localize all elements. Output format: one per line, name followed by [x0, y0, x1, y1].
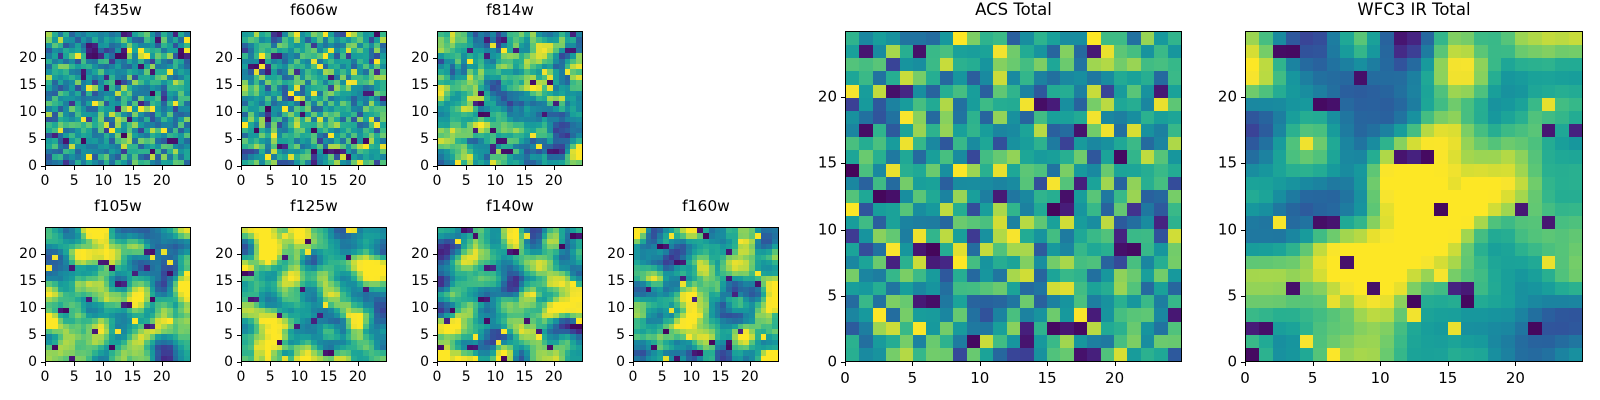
xticklabel-f105w-20: 20 — [153, 370, 171, 384]
xticklabel-f435w-10: 10 — [94, 174, 112, 188]
xticklabel-f160w-15: 15 — [712, 370, 730, 384]
yticklabel-acs-total-0: 0 — [801, 355, 837, 370]
yticklabel-f160w-20: 20 — [589, 247, 625, 261]
xtick-f606w-0 — [241, 166, 242, 170]
yticklabel-acs-total-10: 10 — [801, 222, 837, 237]
yticklabel-f606w-0: 0 — [197, 159, 233, 173]
ytick-f606w-15 — [237, 85, 241, 86]
xticklabel-f606w-0: 0 — [237, 174, 246, 188]
ytick-f160w-10 — [629, 308, 633, 309]
heatmap-axes-f125w — [241, 227, 387, 362]
xtick-f140w-0 — [437, 362, 438, 366]
ytick-f606w-0 — [237, 166, 241, 167]
ytick-acs-total-10 — [841, 230, 845, 231]
xticklabel-f140w-15: 15 — [516, 370, 534, 384]
heatmap-axes-f105w — [45, 227, 191, 362]
yticklabel-f606w-20: 20 — [197, 51, 233, 65]
yticklabel-f105w-5: 5 — [1, 328, 37, 342]
yticklabel-f606w-15: 15 — [197, 78, 233, 92]
panel-f814w: f814w0510152005101520 — [393, 2, 583, 195]
xtick-f105w-15 — [133, 362, 134, 366]
xticklabel-acs-total-10: 10 — [970, 371, 989, 386]
xtick-acs-total-10 — [980, 362, 981, 366]
xtick-f606w-15 — [329, 166, 330, 170]
ytick-f105w-20 — [41, 254, 45, 255]
xtick-f814w-5 — [466, 166, 467, 170]
xticklabel-f140w-10: 10 — [486, 370, 504, 384]
panel-f125w: f125w0510152005101520 — [197, 198, 387, 391]
xticklabel-wfc3-ir-total-10: 10 — [1371, 371, 1390, 386]
xtick-f140w-10 — [495, 362, 496, 366]
ytick-f140w-10 — [433, 308, 437, 309]
ytick-f435w-15 — [41, 85, 45, 86]
yticklabel-wfc3-ir-total-0: 0 — [1201, 355, 1237, 370]
ytick-f814w-15 — [433, 85, 437, 86]
xticklabel-f105w-5: 5 — [70, 370, 79, 384]
xtick-f435w-5 — [74, 166, 75, 170]
xtick-f140w-5 — [466, 362, 467, 366]
heatmap-axes-f606w — [241, 31, 387, 166]
ytick-wfc3-ir-total-5 — [1241, 296, 1245, 297]
xtick-f160w-15 — [721, 362, 722, 366]
yticklabel-f105w-10: 10 — [1, 301, 37, 315]
panel-f105w: f105w0510152005101520 — [1, 198, 191, 391]
panel-acs-total: ACS Total0510152005101520 — [801, 2, 1182, 391]
yticklabel-f814w-5: 5 — [393, 132, 429, 146]
xtick-f160w-10 — [691, 362, 692, 366]
panel-title-f606w: f606w — [241, 3, 387, 19]
ytick-f140w-5 — [433, 335, 437, 336]
ytick-f814w-0 — [433, 166, 437, 167]
heatmap-axes-f435w — [45, 31, 191, 166]
xtick-f160w-20 — [750, 362, 751, 366]
xtick-f435w-20 — [162, 166, 163, 170]
ytick-f435w-10 — [41, 112, 45, 113]
xtick-f814w-15 — [525, 166, 526, 170]
xtick-acs-total-15 — [1047, 362, 1048, 366]
xtick-f125w-0 — [241, 362, 242, 366]
ytick-f435w-5 — [41, 139, 45, 140]
xticklabel-f606w-20: 20 — [349, 174, 367, 188]
yticklabel-f435w-10: 10 — [1, 105, 37, 119]
xtick-wfc3-ir-total-15 — [1448, 362, 1449, 366]
panel-title-wfc3-ir-total: WFC3 IR Total — [1245, 2, 1583, 19]
panel-title-f814w: f814w — [437, 3, 583, 19]
ytick-f140w-0 — [433, 362, 437, 363]
xticklabel-f160w-10: 10 — [682, 370, 700, 384]
xticklabel-f140w-5: 5 — [462, 370, 471, 384]
xticklabel-f814w-0: 0 — [433, 174, 442, 188]
xtick-f814w-10 — [495, 166, 496, 170]
heatmap-image-f606w — [242, 32, 386, 165]
xtick-f125w-10 — [299, 362, 300, 366]
xticklabel-wfc3-ir-total-20: 20 — [1506, 371, 1525, 386]
xticklabel-f814w-10: 10 — [486, 174, 504, 188]
xtick-f140w-15 — [525, 362, 526, 366]
yticklabel-f105w-0: 0 — [1, 355, 37, 369]
yticklabel-f435w-20: 20 — [1, 51, 37, 65]
ytick-f435w-20 — [41, 58, 45, 59]
ytick-f435w-0 — [41, 166, 45, 167]
xtick-f125w-15 — [329, 362, 330, 366]
xtick-wfc3-ir-total-0 — [1245, 362, 1246, 366]
ytick-f606w-10 — [237, 112, 241, 113]
ytick-f125w-0 — [237, 362, 241, 363]
panel-title-f105w: f105w — [45, 199, 191, 215]
yticklabel-f125w-15: 15 — [197, 274, 233, 288]
yticklabel-f435w-15: 15 — [1, 78, 37, 92]
xtick-f160w-5 — [662, 362, 663, 366]
xtick-wfc3-ir-total-10 — [1380, 362, 1381, 366]
ytick-wfc3-ir-total-15 — [1241, 163, 1245, 164]
xtick-acs-total-20 — [1115, 362, 1116, 366]
ytick-f105w-5 — [41, 335, 45, 336]
ytick-f125w-20 — [237, 254, 241, 255]
xticklabel-f105w-10: 10 — [94, 370, 112, 384]
panel-title-f140w: f140w — [437, 199, 583, 215]
xtick-wfc3-ir-total-20 — [1515, 362, 1516, 366]
ytick-f606w-5 — [237, 139, 241, 140]
yticklabel-wfc3-ir-total-5: 5 — [1201, 288, 1237, 303]
yticklabel-f160w-15: 15 — [589, 274, 625, 288]
xticklabel-f125w-15: 15 — [320, 370, 338, 384]
xtick-f435w-0 — [45, 166, 46, 170]
ytick-f105w-15 — [41, 281, 45, 282]
ytick-f814w-20 — [433, 58, 437, 59]
ytick-f125w-5 — [237, 335, 241, 336]
ytick-f125w-15 — [237, 281, 241, 282]
panel-title-f160w: f160w — [633, 199, 779, 215]
yticklabel-f125w-10: 10 — [197, 301, 233, 315]
xticklabel-f606w-10: 10 — [290, 174, 308, 188]
yticklabel-f140w-0: 0 — [393, 355, 429, 369]
xticklabel-f814w-20: 20 — [545, 174, 563, 188]
ytick-acs-total-0 — [841, 362, 845, 363]
yticklabel-f814w-15: 15 — [393, 78, 429, 92]
xticklabel-wfc3-ir-total-0: 0 — [1240, 371, 1250, 386]
ytick-wfc3-ir-total-0 — [1241, 362, 1245, 363]
yticklabel-f140w-5: 5 — [393, 328, 429, 342]
xticklabel-f435w-5: 5 — [70, 174, 79, 188]
heatmap-image-f125w — [242, 228, 386, 361]
ytick-f606w-20 — [237, 58, 241, 59]
xtick-f105w-20 — [162, 362, 163, 366]
xticklabel-acs-total-15: 15 — [1038, 371, 1057, 386]
ytick-f160w-5 — [629, 335, 633, 336]
panel-f435w: f435w0510152005101520 — [1, 2, 191, 195]
yticklabel-f125w-0: 0 — [197, 355, 233, 369]
yticklabel-acs-total-20: 20 — [801, 90, 837, 105]
yticklabel-f160w-10: 10 — [589, 301, 625, 315]
xtick-f105w-10 — [103, 362, 104, 366]
xticklabel-f435w-0: 0 — [41, 174, 50, 188]
xtick-f606w-5 — [270, 166, 271, 170]
ytick-f140w-20 — [433, 254, 437, 255]
xtick-acs-total-5 — [912, 362, 913, 366]
yticklabel-f606w-10: 10 — [197, 105, 233, 119]
heatmap-axes-f160w — [633, 227, 779, 362]
xtick-f606w-10 — [299, 166, 300, 170]
ytick-acs-total-15 — [841, 163, 845, 164]
heatmap-image-f435w — [46, 32, 190, 165]
ytick-f105w-10 — [41, 308, 45, 309]
yticklabel-f140w-10: 10 — [393, 301, 429, 315]
xticklabel-acs-total-0: 0 — [840, 371, 850, 386]
heatmap-axes-f814w — [437, 31, 583, 166]
xticklabel-acs-total-20: 20 — [1105, 371, 1124, 386]
xtick-f125w-5 — [270, 362, 271, 366]
ytick-acs-total-5 — [841, 296, 845, 297]
yticklabel-f105w-20: 20 — [1, 247, 37, 261]
ytick-f105w-0 — [41, 362, 45, 363]
xticklabel-f105w-15: 15 — [124, 370, 142, 384]
yticklabel-acs-total-5: 5 — [801, 288, 837, 303]
ytick-f814w-5 — [433, 139, 437, 140]
ytick-acs-total-20 — [841, 97, 845, 98]
heatmap-axes-wfc3-ir-total — [1245, 31, 1583, 362]
yticklabel-f125w-20: 20 — [197, 247, 233, 261]
panel-f606w: f606w0510152005101520 — [197, 2, 387, 195]
xticklabel-f814w-5: 5 — [462, 174, 471, 188]
yticklabel-f435w-0: 0 — [1, 159, 37, 173]
xticklabel-f435w-15: 15 — [124, 174, 142, 188]
ytick-f814w-10 — [433, 112, 437, 113]
xticklabel-wfc3-ir-total-5: 5 — [1308, 371, 1318, 386]
heatmap-image-f140w — [438, 228, 582, 361]
yticklabel-f814w-20: 20 — [393, 51, 429, 65]
xtick-f606w-20 — [358, 166, 359, 170]
ytick-f160w-20 — [629, 254, 633, 255]
xticklabel-f160w-0: 0 — [629, 370, 638, 384]
ytick-wfc3-ir-total-20 — [1241, 97, 1245, 98]
xticklabel-f105w-0: 0 — [41, 370, 50, 384]
panel-wfc3-ir-total: WFC3 IR Total0510152005101520 — [1201, 2, 1583, 391]
xtick-f435w-15 — [133, 166, 134, 170]
xtick-f105w-5 — [74, 362, 75, 366]
figure-canvas: f435w0510152005101520f606w05101520051015… — [0, 0, 1600, 400]
yticklabel-f105w-15: 15 — [1, 274, 37, 288]
heatmap-image-f105w — [46, 228, 190, 361]
yticklabel-f160w-0: 0 — [589, 355, 625, 369]
xticklabel-acs-total-5: 5 — [908, 371, 918, 386]
yticklabel-wfc3-ir-total-20: 20 — [1201, 90, 1237, 105]
xtick-acs-total-0 — [845, 362, 846, 366]
yticklabel-f160w-5: 5 — [589, 328, 625, 342]
ytick-wfc3-ir-total-10 — [1241, 230, 1245, 231]
xticklabel-f606w-15: 15 — [320, 174, 338, 188]
panel-f160w: f160w0510152005101520 — [589, 198, 779, 391]
ytick-f140w-15 — [433, 281, 437, 282]
yticklabel-f814w-0: 0 — [393, 159, 429, 173]
heatmap-image-f814w — [438, 32, 582, 165]
xticklabel-wfc3-ir-total-15: 15 — [1438, 371, 1457, 386]
heatmap-image-f160w — [634, 228, 778, 361]
heatmap-image-acs-total — [846, 32, 1181, 361]
yticklabel-f606w-5: 5 — [197, 132, 233, 146]
xtick-f125w-20 — [358, 362, 359, 366]
xtick-f140w-20 — [554, 362, 555, 366]
heatmap-image-wfc3-ir-total — [1246, 32, 1582, 361]
xticklabel-f125w-5: 5 — [266, 370, 275, 384]
xticklabel-f140w-20: 20 — [545, 370, 563, 384]
xticklabel-f814w-15: 15 — [516, 174, 534, 188]
xticklabel-f435w-20: 20 — [153, 174, 171, 188]
xtick-f814w-20 — [554, 166, 555, 170]
yticklabel-f125w-5: 5 — [197, 328, 233, 342]
xticklabel-f125w-20: 20 — [349, 370, 367, 384]
xticklabel-f160w-5: 5 — [658, 370, 667, 384]
yticklabel-f140w-20: 20 — [393, 247, 429, 261]
ytick-f160w-0 — [629, 362, 633, 363]
xticklabel-f160w-20: 20 — [741, 370, 759, 384]
yticklabel-wfc3-ir-total-10: 10 — [1201, 222, 1237, 237]
panel-title-f435w: f435w — [45, 3, 191, 19]
ytick-f160w-15 — [629, 281, 633, 282]
panel-f140w: f140w0510152005101520 — [393, 198, 583, 391]
yticklabel-acs-total-15: 15 — [801, 156, 837, 171]
xtick-f105w-0 — [45, 362, 46, 366]
xtick-wfc3-ir-total-5 — [1313, 362, 1314, 366]
xtick-f435w-10 — [103, 166, 104, 170]
xticklabel-f606w-5: 5 — [266, 174, 275, 188]
panel-title-acs-total: ACS Total — [845, 2, 1182, 19]
heatmap-axes-f140w — [437, 227, 583, 362]
xticklabel-f140w-0: 0 — [433, 370, 442, 384]
yticklabel-wfc3-ir-total-15: 15 — [1201, 156, 1237, 171]
yticklabel-f140w-15: 15 — [393, 274, 429, 288]
xticklabel-f125w-10: 10 — [290, 370, 308, 384]
heatmap-axes-acs-total — [845, 31, 1182, 362]
yticklabel-f814w-10: 10 — [393, 105, 429, 119]
panel-title-f125w: f125w — [241, 199, 387, 215]
xtick-f814w-0 — [437, 166, 438, 170]
xticklabel-f125w-0: 0 — [237, 370, 246, 384]
xtick-f160w-0 — [633, 362, 634, 366]
yticklabel-f435w-5: 5 — [1, 132, 37, 146]
ytick-f125w-10 — [237, 308, 241, 309]
